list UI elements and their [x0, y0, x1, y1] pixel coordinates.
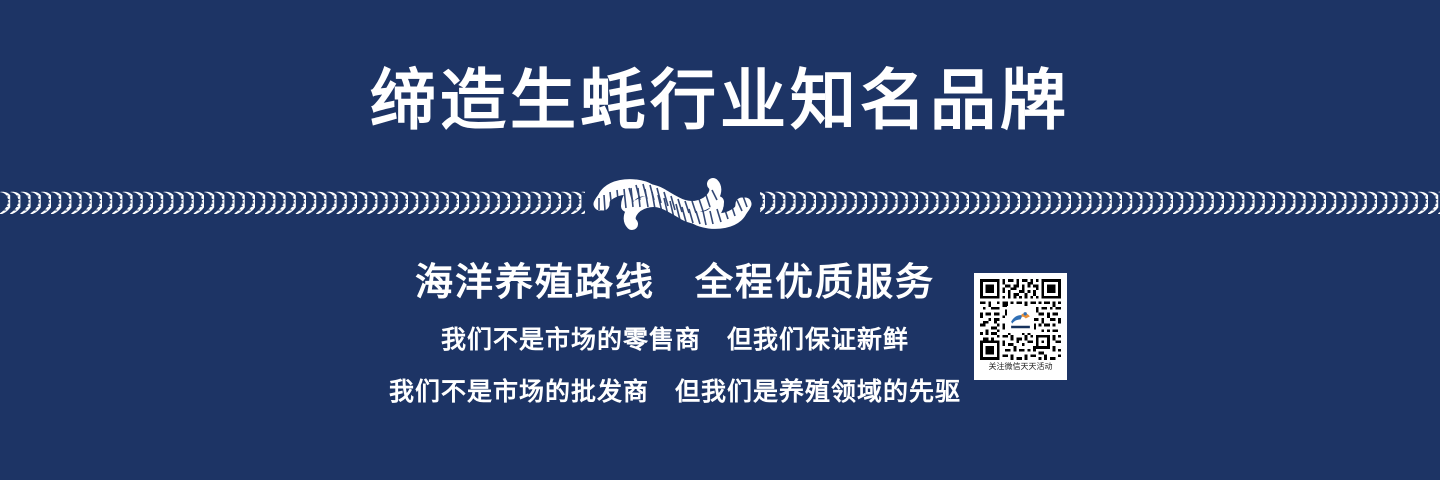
body-line-retail: 我们不是市场的零售商 但我们保证新鲜	[0, 320, 1350, 356]
page-title: 缔造生蚝行业知名品牌	[0, 68, 1440, 134]
body-line-wholesale: 我们不是市场的批发商 但我们是养殖领域的先驱	[0, 372, 1350, 408]
reef-knot-icon	[585, 176, 760, 232]
qr-caption: 关注微信天天活动	[989, 360, 1053, 374]
rope-knot-divider	[0, 176, 1440, 232]
subheadline: 海洋养殖路线 全程优质服务	[0, 262, 1440, 304]
qr-center-logo	[1007, 306, 1034, 333]
qr-code-icon[interactable]	[980, 279, 1061, 360]
wechat-qr-card[interactable]: 关注微信天天活动	[974, 273, 1067, 380]
promo-banner: 缔造生蚝行业知名品牌	[0, 0, 1440, 480]
body-copy: 我们不是市场的零售商 但我们保证新鲜 我们不是市场的批发商 但我们是养殖领域的先…	[0, 320, 1440, 408]
